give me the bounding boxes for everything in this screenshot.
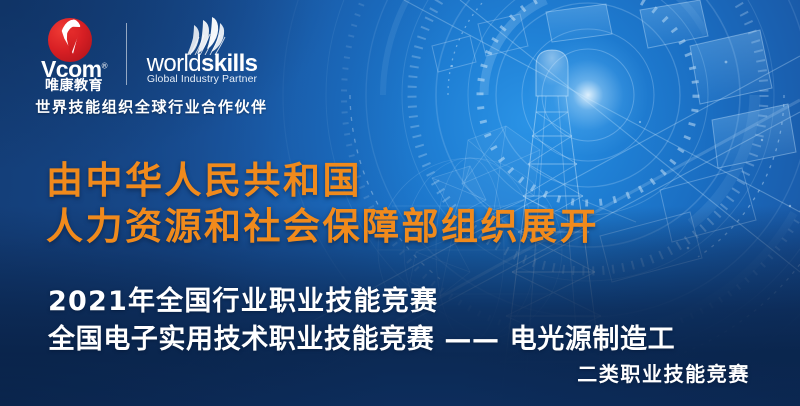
headline-line-2: 人力资源和社会保障部组织展开 xyxy=(46,204,599,250)
logo-divider xyxy=(126,23,127,85)
partner-statement: 世界技能组织全球行业合作伙伴 xyxy=(24,96,279,117)
logo-row: Vcom® 唯康教育 xyxy=(26,18,276,90)
organizer-headline: 由中华人民共和国 人力资源和社会保障部组织展开 xyxy=(46,158,599,250)
headline-line-1: 由中华人民共和国 xyxy=(46,158,599,204)
competition-title-block: 2021年全国行业职业技能竞赛 全国电子实用技术职业技能竞赛 —— 电光源制造工… xyxy=(48,283,768,389)
worldskills-logo: worldskills Global Industry Partner xyxy=(138,18,266,90)
registered-mark-icon: ® xyxy=(102,61,107,70)
event-poster-banner: Vcom® 唯康教育 xyxy=(0,0,800,406)
competition-category-line: 二类职业技能竞赛 xyxy=(48,359,768,389)
vcom-logo: Vcom® 唯康教育 xyxy=(26,18,122,90)
worldskills-tagline: Global Industry Partner xyxy=(138,74,266,85)
competition-title-line-2: 全国电子实用技术职业技能竞赛 —— 电光源制造工 xyxy=(48,321,768,359)
vcom-chinese-name: 唯康教育 xyxy=(26,78,122,92)
logo-header: Vcom® 唯康教育 xyxy=(26,18,276,117)
competition-title-line-1: 2021年全国行业职业技能竞赛 xyxy=(48,283,768,321)
